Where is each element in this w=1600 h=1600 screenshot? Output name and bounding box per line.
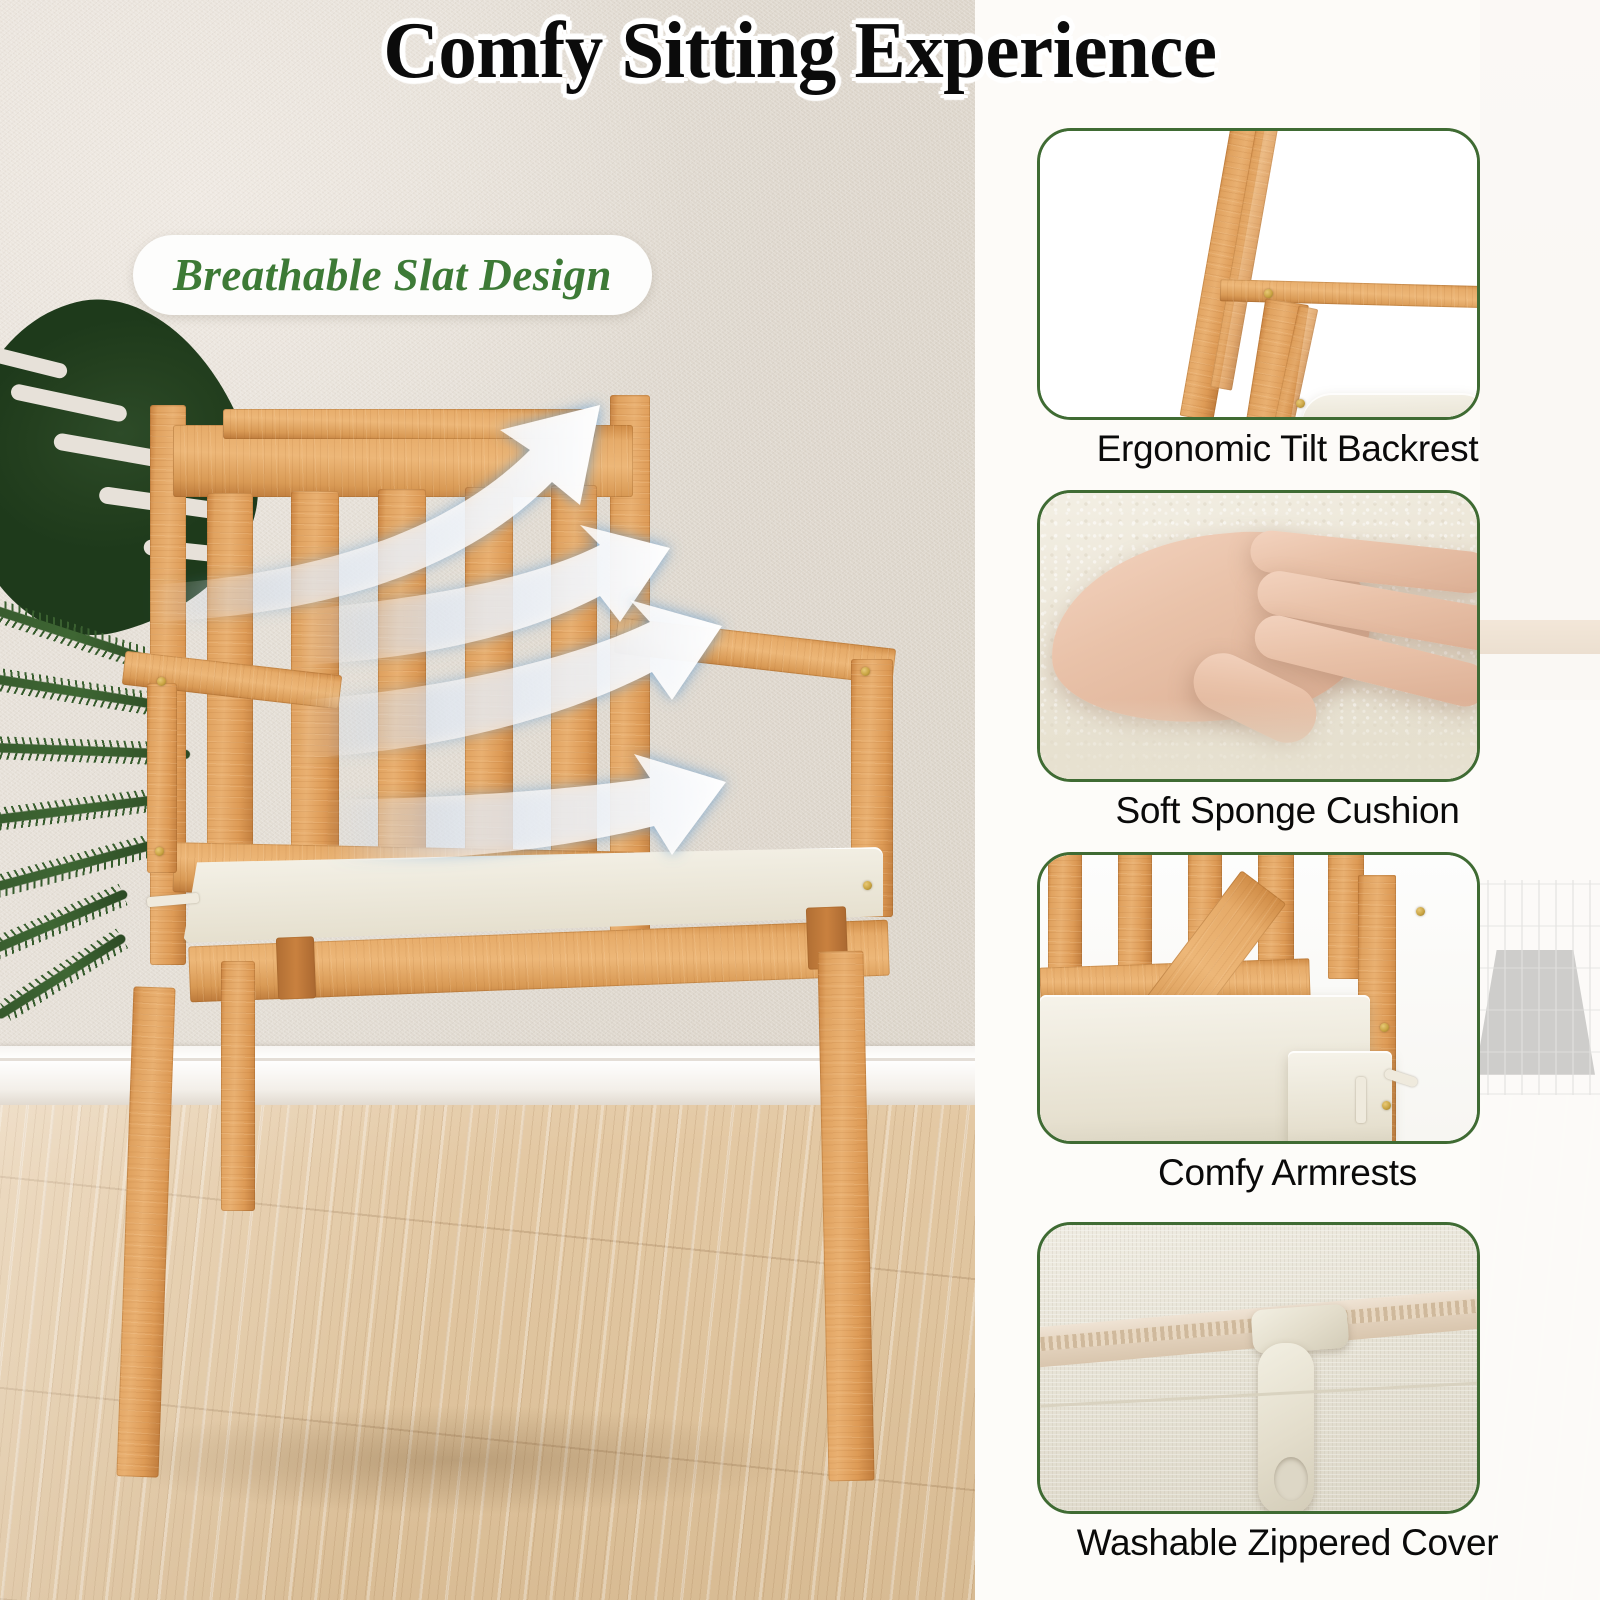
hero-lifestyle-photo: Breathable Slat Design — [0, 0, 975, 1600]
brass-screw — [863, 881, 872, 890]
brass-screw — [861, 667, 870, 676]
feature-cards-panel: Ergonomic Tilt Backrest Soft Sponge Cush… — [975, 0, 1600, 1600]
breathable-slat-design-badge: Breathable Slat Design — [133, 235, 652, 315]
badge-label: Breathable Slat Design — [173, 249, 612, 301]
chair-arm-front-post-left — [147, 683, 177, 873]
chair-leg-rear-left — [221, 961, 255, 1211]
zipper-closeup-photo — [1040, 1225, 1477, 1511]
product-feature-graphic: Breathable Slat Design — [0, 0, 1600, 1600]
wooden-armchair — [95, 395, 925, 1525]
chair-slat — [378, 489, 426, 869]
hand-pressing-foam-photo — [1040, 493, 1477, 779]
feature-card-comfy-armrests — [1037, 852, 1480, 1144]
feature-caption-2: Soft Sponge Cushion — [975, 790, 1600, 832]
chair-leg-front-left — [116, 986, 175, 1477]
feature-card-ergonomic-tilt-backrest — [1037, 128, 1480, 420]
brass-screw — [157, 677, 166, 686]
chair-side-profile-photo — [1040, 131, 1477, 417]
page-title-text: Comfy Sitting Experience — [383, 6, 1216, 97]
chair-slat — [551, 485, 597, 873]
feature-caption-3: Comfy Armrests — [975, 1152, 1600, 1194]
chair-leg-front-right — [817, 951, 874, 1482]
feature-caption-1: Ergonomic Tilt Backrest — [975, 428, 1600, 470]
feature-card-soft-sponge-cushion — [1037, 490, 1480, 782]
page-title: Comfy Sitting Experience — [0, 6, 1600, 97]
brass-screw — [155, 847, 164, 856]
chair-slat — [465, 487, 513, 871]
feature-caption-4: Washable Zippered Cover — [975, 1522, 1600, 1564]
feature-card-washable-zippered-cover — [1037, 1222, 1480, 1514]
chair-joint-block — [276, 936, 316, 999]
armrest-corner-photo — [1040, 855, 1477, 1141]
